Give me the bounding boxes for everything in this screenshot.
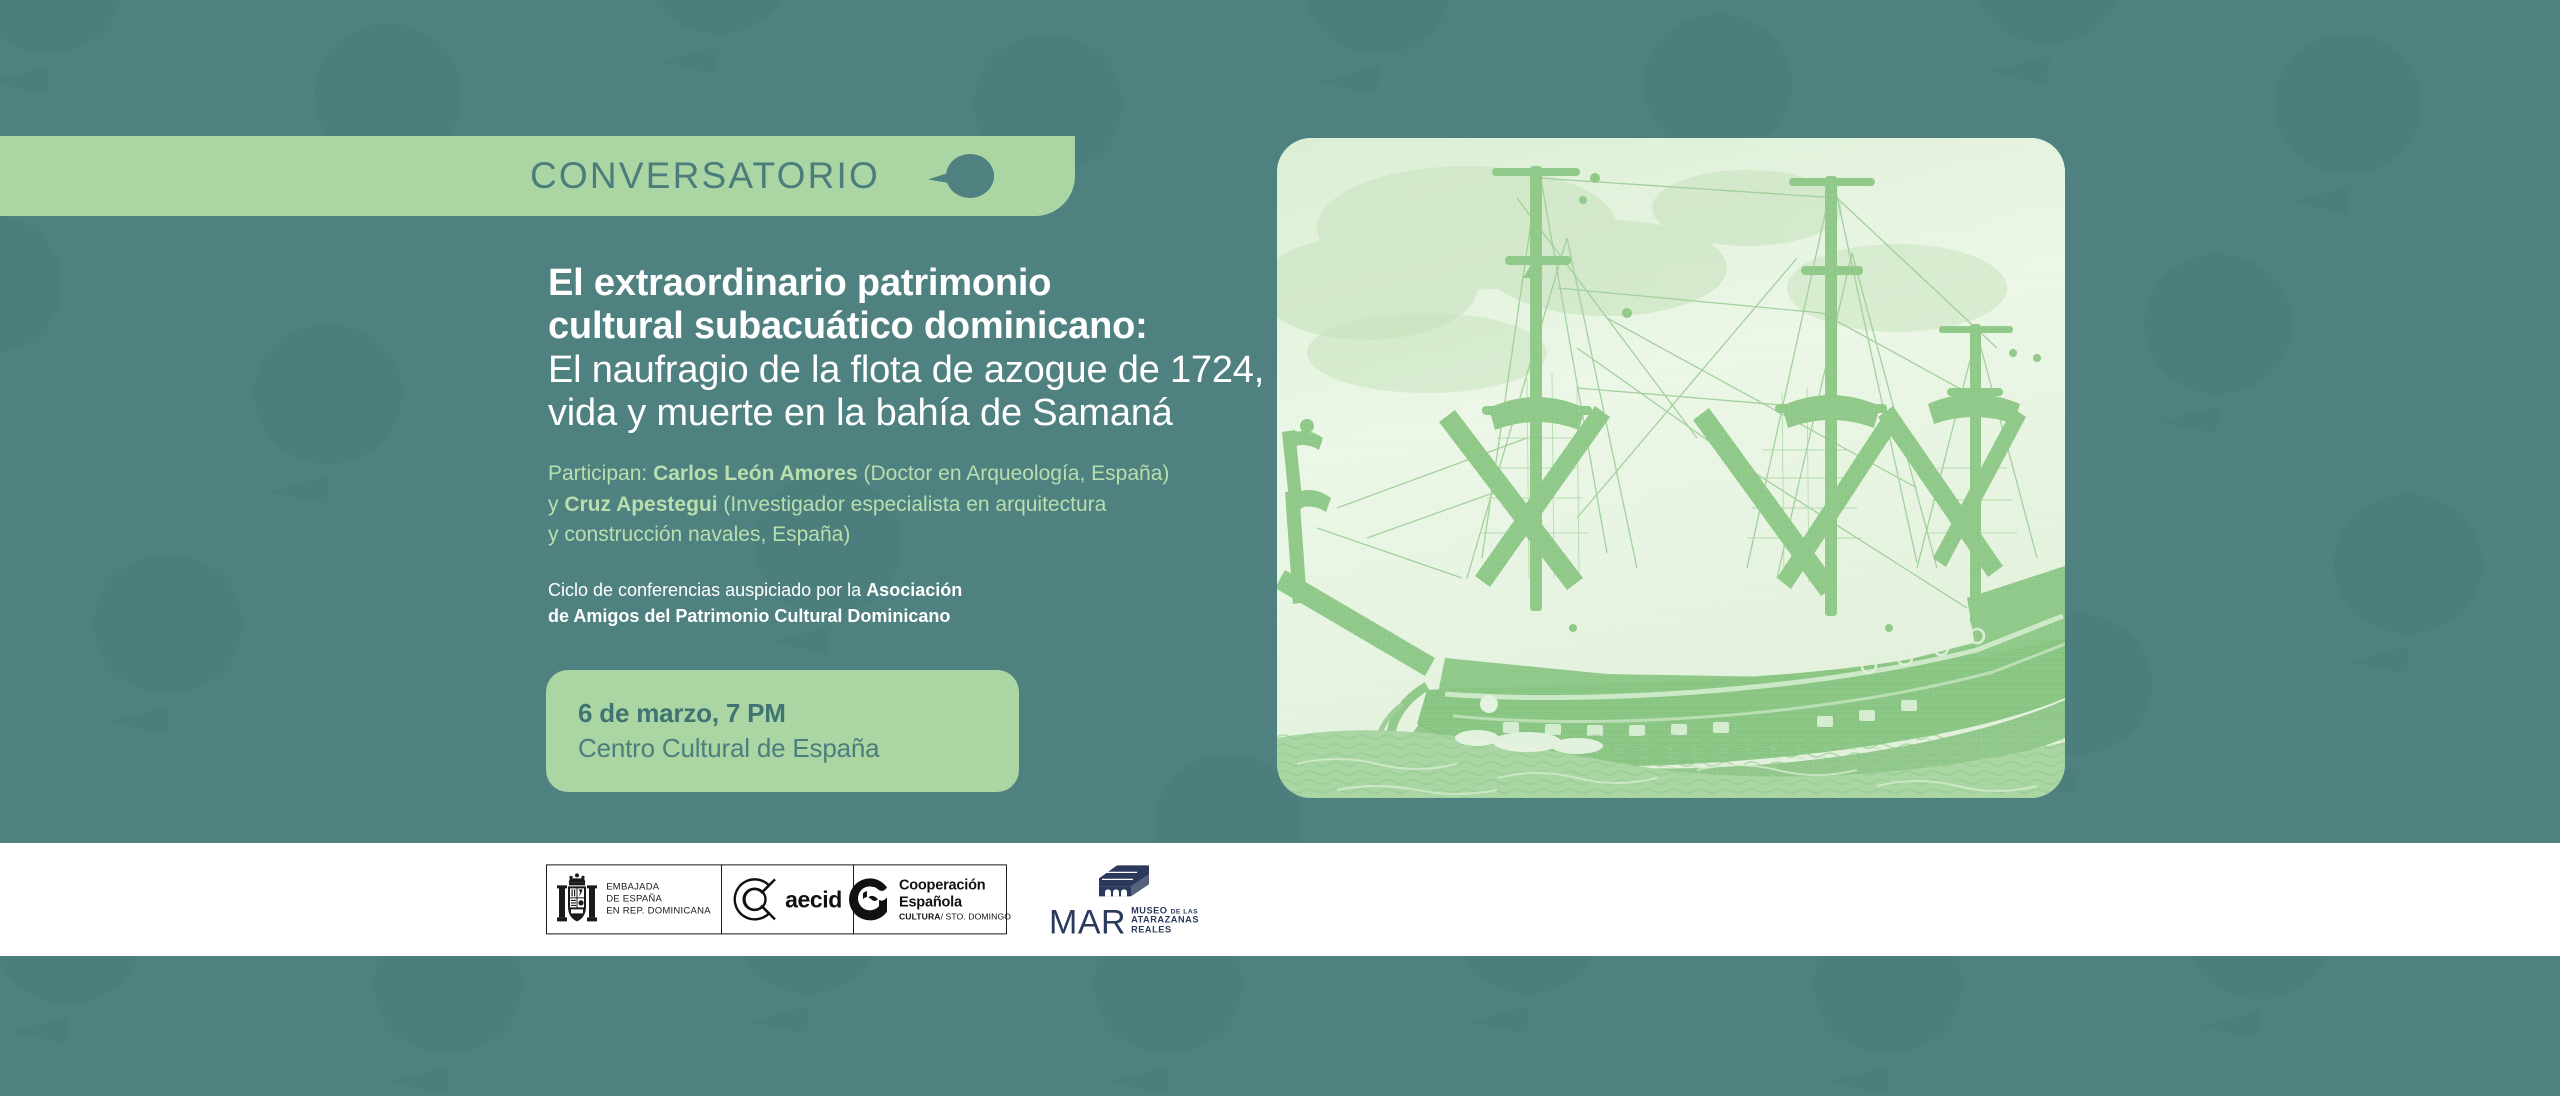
ship-illustration-card (1277, 138, 2065, 798)
participants-lead: Participan: (548, 462, 653, 485)
event-date: 6 de marzo, 7 PM (578, 696, 1019, 731)
participant-detail-1: (Doctor en Arqueología, España) (858, 462, 1170, 485)
cooperacion-espanola-logo: Cooperación Española CULTURA/ STO. DOMIN… (853, 865, 1007, 935)
date-venue-card: 6 de marzo, 7 PM Centro Cultural de Espa… (546, 670, 1019, 792)
sponsor-line-2-bold: de Amigos del Patrimonio Cultural Domini… (548, 606, 950, 626)
sponsor-line-1-bold: Asociación (866, 580, 962, 600)
banner-label: CONVERSATORIO (530, 155, 880, 197)
embassy-line-2: DE ESPAÑA (606, 893, 711, 905)
embassy-line-1: EMBAJADA (606, 881, 711, 893)
embassy-line-3: EN REP. DOMINICANA (606, 906, 711, 918)
coop-line-3-rest: / STO. DOMINGO (941, 912, 1011, 922)
conversatorio-banner: CONVERSATORIO (0, 136, 1075, 216)
mar-sub-delas: DE LAS (1171, 908, 1198, 915)
participant-name-1: Carlos León Amores (653, 462, 858, 485)
title-line-3: El naufragio de la flota de azogue de 17… (548, 349, 1308, 392)
coop-line-1: Cooperación (899, 877, 1011, 894)
participant-detail-2: (Investigador especialista en arquitectu… (718, 493, 1107, 516)
title-line-2: cultural subacuático dominicano: (548, 305, 1308, 348)
museo-atarazanas-reales-logo: MAR MUSEO DE LAS ATARAZANAS REALES (1049, 862, 1199, 937)
aecid-logo: aecid (721, 865, 855, 935)
participants-paragraph: Participan: Carlos León Amores (Doctor e… (548, 459, 1308, 550)
event-title: El extraordinario patrimonio cultural su… (548, 262, 1308, 435)
title-line-4: vida y muerte en la bahía de Samaná (548, 392, 1308, 435)
embassy-of-spain-logo: EMBAJADA DE ESPAÑA EN REP. DOMINICANA (546, 865, 722, 935)
atarazanas-building-icon (1093, 862, 1155, 904)
sponsor-line-1-plain: Ciclo de conferencias auspiciado por la (548, 580, 866, 600)
poster-text-column: El extraordinario patrimonio cultural su… (548, 262, 1308, 630)
mar-wordmark: MAR (1049, 909, 1126, 938)
cooperacion-mark-icon (849, 877, 891, 921)
aecid-wordmark: aecid (785, 886, 842, 913)
coop-line-2: Española (899, 894, 1011, 911)
title-line-1: El extraordinario patrimonio (548, 262, 1308, 305)
aecid-mark-icon (733, 878, 777, 922)
participant-detail-3: y construcción navales, España) (548, 523, 850, 546)
spain-coat-of-arms-icon (557, 872, 597, 928)
mar-sub-museo: MUSEO (1131, 905, 1167, 915)
coop-line-3-bold: CULTURA (899, 912, 941, 922)
sponsor-paragraph: Ciclo de conferencias auspiciado por la … (548, 577, 1308, 630)
speech-bubble-icon (928, 154, 994, 198)
event-venue: Centro Cultural de España (578, 731, 1019, 766)
sailing-ship-engraving-icon (1277, 138, 2065, 798)
participants-conj: y (548, 493, 564, 516)
mar-sub-reales: REALES (1131, 925, 1199, 935)
logo-row: EMBAJADA DE ESPAÑA EN REP. DOMINICANA ae… (546, 862, 1199, 937)
sponsor-logo-bar: EMBAJADA DE ESPAÑA EN REP. DOMINICANA ae… (0, 843, 2560, 956)
participant-name-2: Cruz Apestegui (564, 493, 717, 516)
event-poster: CONVERSATORIO El extraordinario patrimon… (0, 0, 2560, 1096)
